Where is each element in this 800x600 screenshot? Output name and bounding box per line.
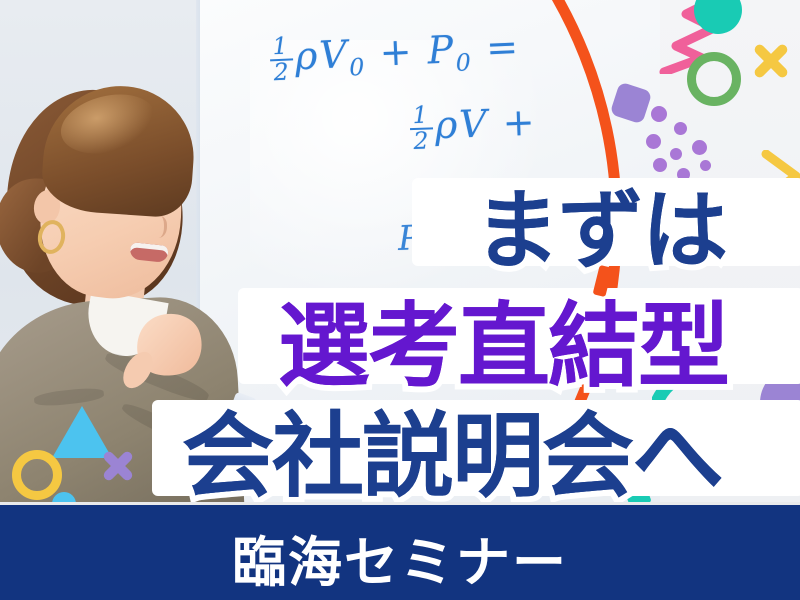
band-top-rule xyxy=(0,502,800,505)
brand-band: 臨海セミナー xyxy=(0,502,800,600)
brand-name: 臨海セミナー xyxy=(0,518,800,597)
headline-line-3: 会社説明会へ xyxy=(182,382,722,515)
headline-block: まずは まずは 選考直結型 選考直結型 会社説明会へ 会社説明会へ xyxy=(0,0,800,505)
promo-poster: 12ρV0 + P0 = 12ρV + P = 12ρ(V−V xyxy=(0,0,800,600)
